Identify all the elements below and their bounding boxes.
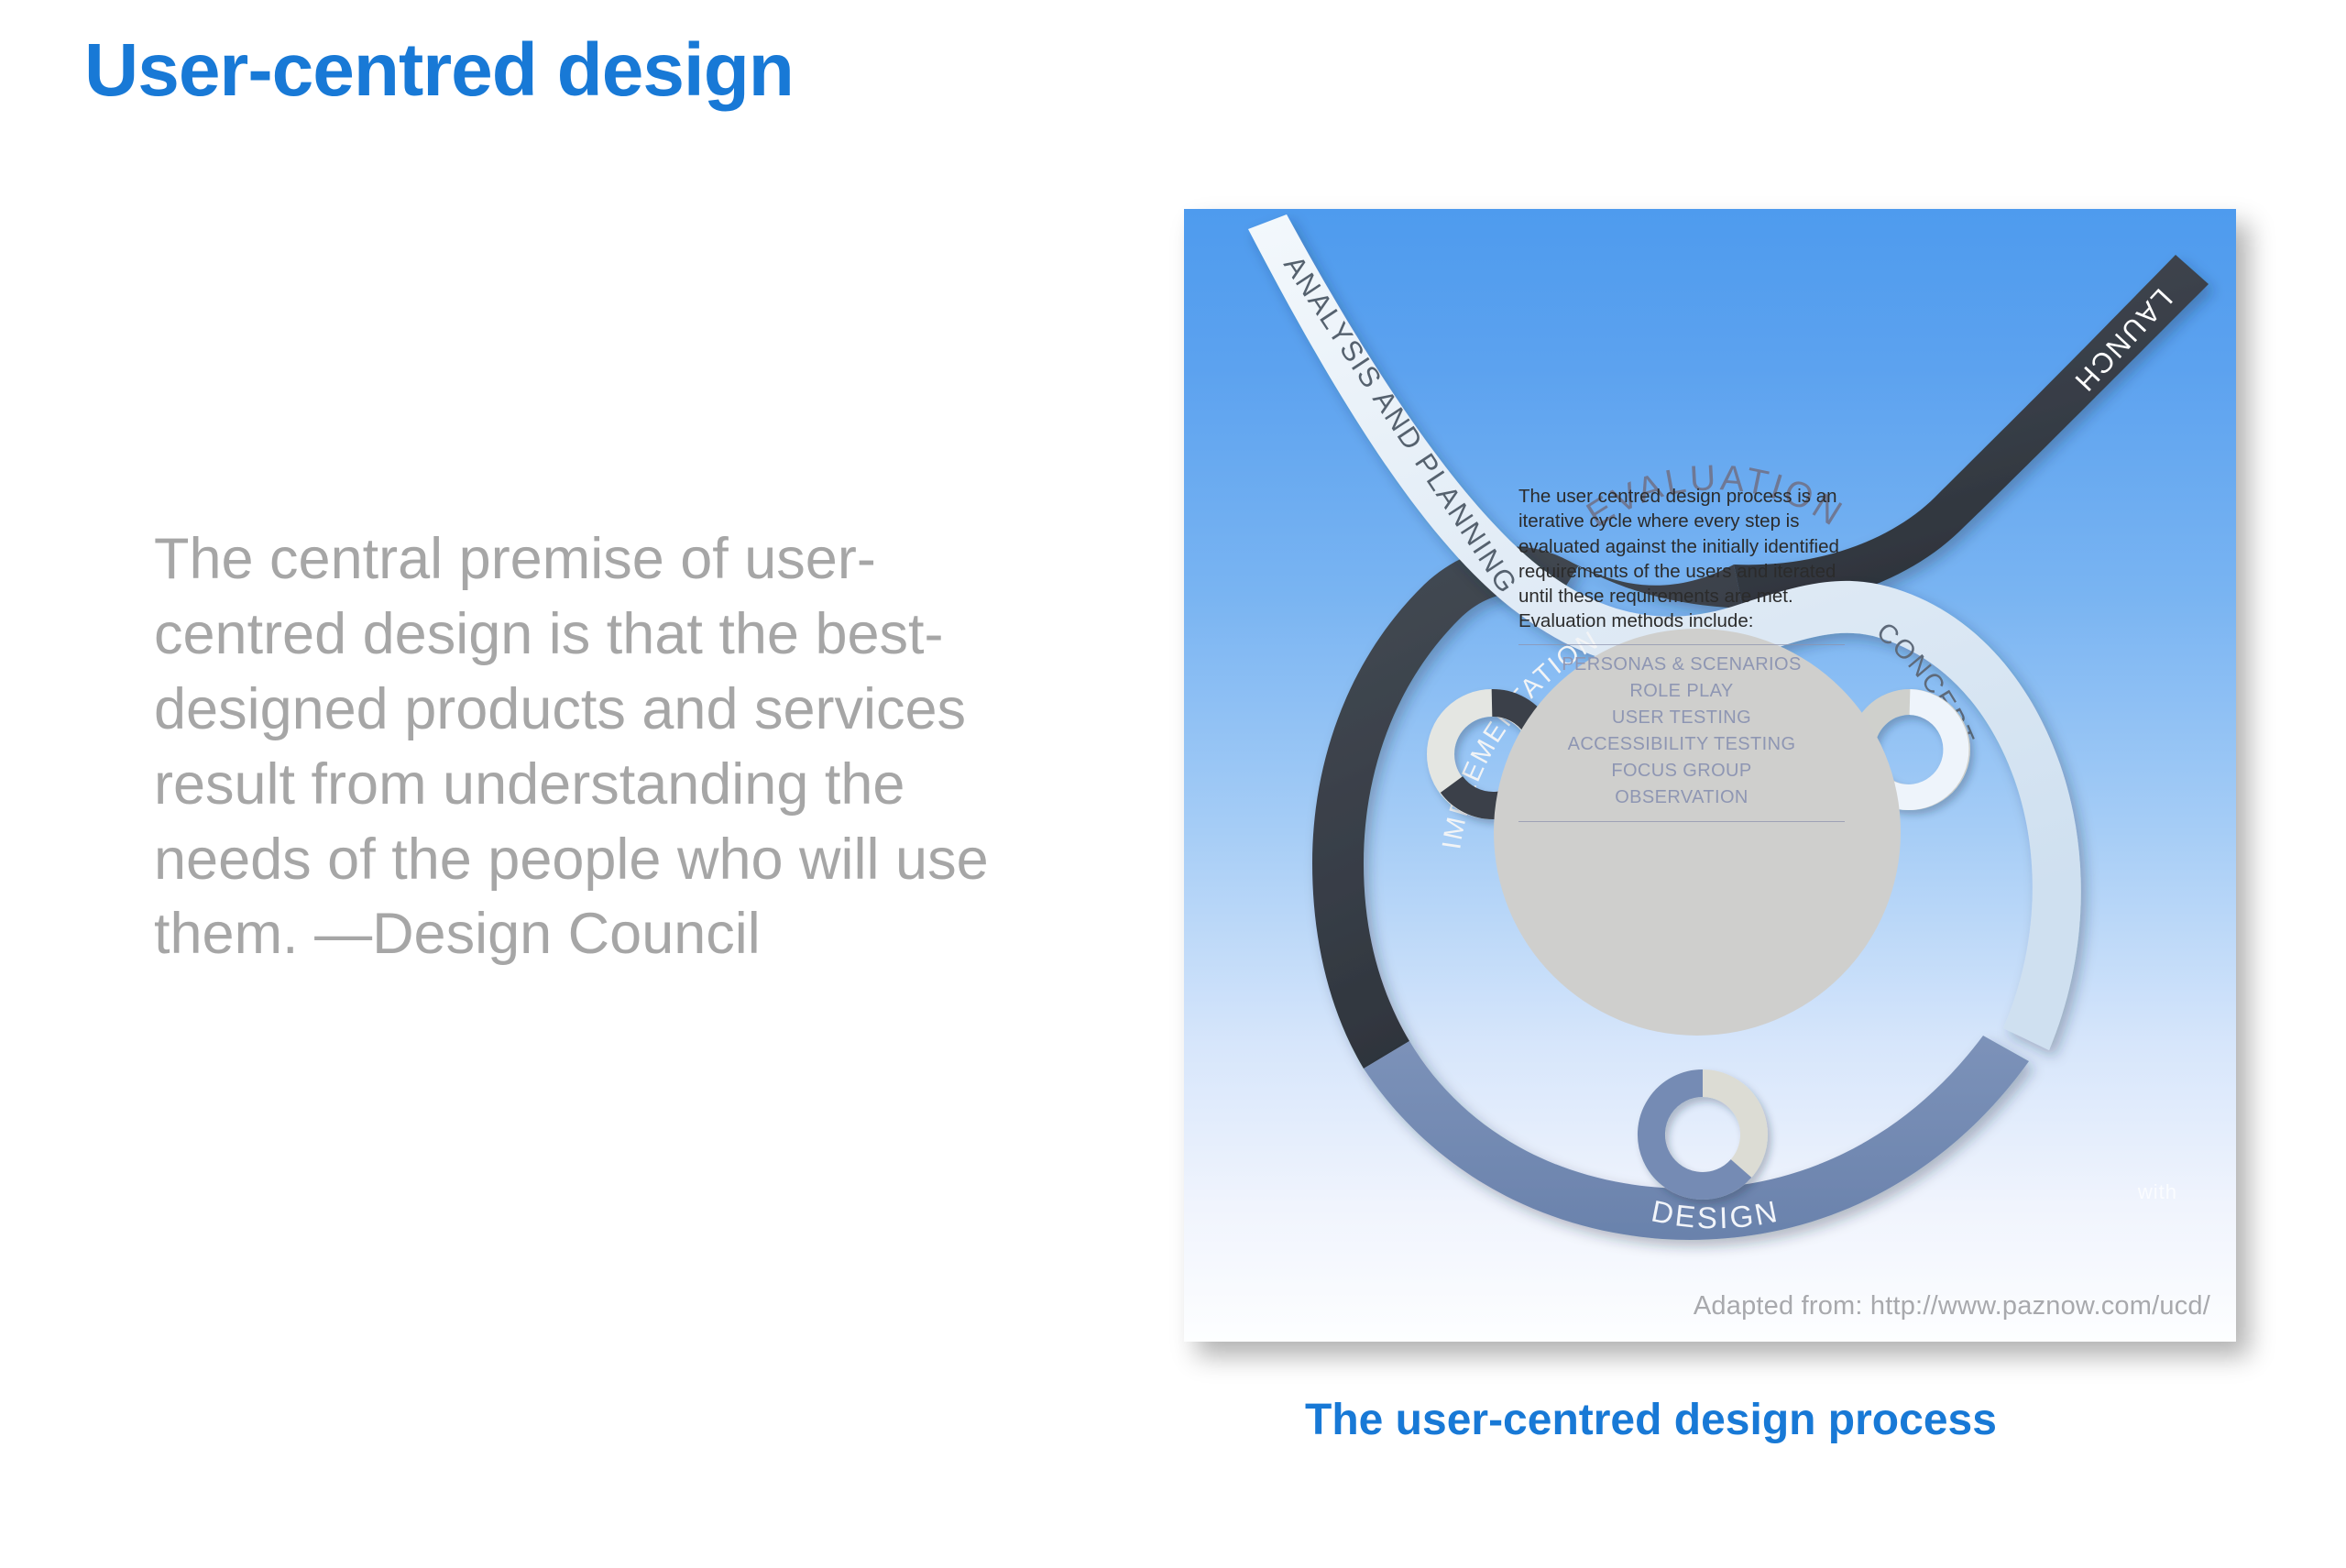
evaluation-paragraph: The user centred design process is an it… <box>1518 484 1845 634</box>
method-item: OBSERVATION <box>1518 784 1845 811</box>
ucd-process-figure: ANALYSIS AND PLANNING LAUNCH IMPLEMENTAT… <box>1184 209 2236 1342</box>
page-title: User-centred design <box>84 27 794 114</box>
method-item: FOCUS GROUP <box>1518 758 1845 784</box>
method-item: USER TESTING <box>1518 705 1845 731</box>
method-item: PERSONAS & SCENARIOS <box>1518 652 1845 678</box>
evaluation-methods-list: PERSONAS & SCENARIOS ROLE PLAY USER TEST… <box>1518 652 1845 811</box>
figure-attribution: Adapted from: http://www.paznow.com/ucd/ <box>1694 1291 2210 1321</box>
evaluation-hub-text: The user centred design process is an it… <box>1518 484 1845 828</box>
design-ring <box>1651 1083 1754 1186</box>
figure-canvas: ANALYSIS AND PLANNING LAUNCH IMPLEMENTAT… <box>1184 209 2236 1342</box>
watermark-text: with <box>2138 1180 2177 1204</box>
launch-ribbon-label: LAUNCH <box>2067 282 2179 399</box>
launch-label-group: LAUNCH <box>2067 282 2179 399</box>
hub-divider-top <box>1518 644 1845 645</box>
method-item: ACCESSIBILITY TESTING <box>1518 731 1845 758</box>
body-quote: The central premise of user-centred desi… <box>154 522 1006 972</box>
method-item: ROLE PLAY <box>1518 678 1845 705</box>
analysis-label-group: ANALYSIS AND PLANNING <box>1277 250 1524 600</box>
figure-caption: The user-centred design process <box>1305 1395 1997 1445</box>
hub-divider-bottom <box>1518 821 1845 822</box>
analysis-ribbon-label: ANALYSIS AND PLANNING <box>1277 250 1524 600</box>
